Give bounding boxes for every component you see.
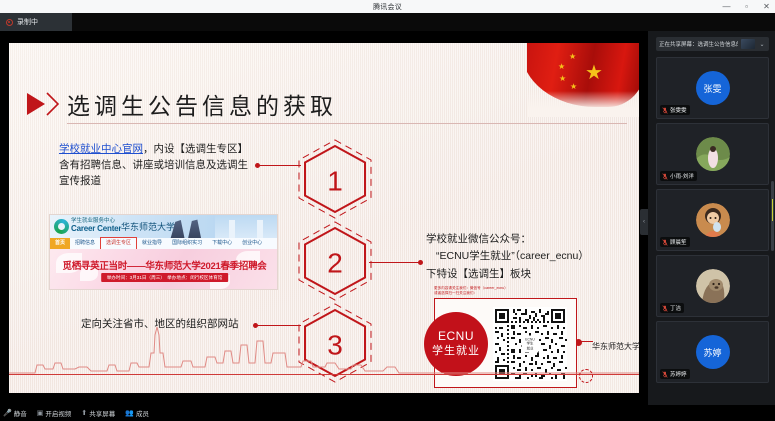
- hexagon-2-number: 2: [301, 247, 369, 279]
- participant-name-badge: 小雨-刘洋: [660, 171, 697, 181]
- participant-tile-4[interactable]: 苏婷 苏婷婷: [656, 321, 769, 383]
- mic-off-icon: [662, 371, 668, 378]
- mic-off-icon: 🎤: [3, 409, 12, 417]
- website-nav-item-3[interactable]: 就业指导: [137, 238, 167, 249]
- sharing-thumbnail[interactable]: [741, 39, 755, 49]
- rail-scroll-indicator: [772, 199, 773, 221]
- website-banner-subtitle: 举办时间：3月31日（周三） 举办地点：闵行校区体育馆: [101, 273, 229, 282]
- website-brand-big: Career Center: [71, 224, 121, 233]
- website-nav-item-0[interactable]: 首页: [50, 238, 70, 249]
- share-icon: ⬆: [81, 409, 87, 417]
- participant-name: 张雯雯: [670, 106, 687, 114]
- website-nav: 首页 招聘信息 选调生专区 就业指导 国际组织实习 下载中心 创业中心: [50, 238, 278, 249]
- recording-indicator[interactable]: 录制中: [0, 13, 72, 31]
- title-arrow-icon: [27, 93, 45, 115]
- participant-name-badge: 丁洁: [660, 303, 684, 313]
- minimize-icon[interactable]: —: [722, 2, 731, 11]
- video-off-icon: ▣: [37, 409, 44, 417]
- china-flag-icon: ★ ★ ★ ★ ★: [527, 43, 639, 121]
- participant-name-badge: 苏婷婷: [660, 369, 690, 379]
- website-header: 学生就业服务中心 Career Center 华东师范大学: [50, 215, 278, 238]
- participant-rail: 正在共享屏幕：选调生公告信息的获取 ⌄ 张雯 张雯雯: [648, 31, 775, 405]
- slide-point-1-line3: 宣传报道: [59, 173, 101, 189]
- slide-title: 选调生公告信息的获取: [67, 87, 337, 121]
- title-divider: [67, 123, 627, 124]
- window-titlebar: 腾讯会议 — ▫ ✕: [0, 0, 775, 13]
- toolbar-members-label: 成员: [136, 408, 149, 418]
- slide-right-line-3: 下特设【选调生】板块: [426, 266, 531, 283]
- record-dot-icon: [6, 19, 13, 26]
- website-nav-item-1[interactable]: 招聘信息: [70, 238, 100, 249]
- avatar: [696, 203, 730, 237]
- avatar: [696, 269, 730, 303]
- top-strip: [0, 13, 775, 31]
- website-nav-item-4[interactable]: 国际组织实习: [167, 238, 207, 249]
- connector-2: [369, 262, 421, 263]
- avatar-initials: 苏婷: [703, 346, 721, 359]
- slide-right-line-1: 学校就业微信公众号：: [426, 231, 531, 248]
- mic-off-icon: [662, 239, 668, 246]
- meeting-window: 腾讯会议 — ▫ ✕ 录制中 ★ ★ ★ ★ ★: [0, 0, 775, 421]
- hexagon-2: 2: [301, 225, 369, 302]
- mic-off-icon: [662, 107, 668, 114]
- avatar: 张雯: [696, 71, 730, 105]
- qr-note: 更多内容请关注我们：微信号（career_ecnu） 或者选择扫一扫关注我们：: [434, 286, 508, 296]
- connector-2-dot: [418, 260, 423, 265]
- toolbar-video-label: 开启视频: [45, 408, 71, 418]
- participant-tile-1[interactable]: 小雨-刘洋: [656, 123, 769, 185]
- maximize-icon[interactable]: ▫: [742, 2, 751, 11]
- mic-off-icon: [662, 305, 668, 312]
- participant-name: 顾晨笙: [670, 238, 687, 246]
- chevron-icon[interactable]: ⌄: [758, 41, 766, 48]
- hexagon-1: 1: [301, 143, 369, 220]
- sharing-topic-label: 正在共享屏幕：选调生公告信息的获取: [659, 40, 738, 48]
- slide-point-1-rest: ，内设【选调生专区】: [143, 143, 248, 155]
- shared-screen-stage[interactable]: ★ ★ ★ ★ ★ 选调生公告信息的获取 学校就业中心官网，内设【选调生专区】 …: [0, 31, 648, 405]
- collapse-rail-button[interactable]: ‹: [640, 209, 648, 235]
- presentation-slide: ★ ★ ★ ★ ★ 选调生公告信息的获取 学校就业中心官网，内设【选调生专区】 …: [9, 43, 639, 393]
- toolbar-share-label: 共享屏幕: [89, 408, 115, 418]
- participant-name-badge: 顾晨笙: [660, 237, 690, 247]
- members-icon: 👥: [125, 409, 134, 417]
- participant-name: 苏婷婷: [670, 370, 687, 378]
- hexagon-1-number: 1: [301, 165, 369, 197]
- toolbar-mute-label: 静音: [14, 408, 27, 418]
- participant-tile-2[interactable]: 顾晨笙: [656, 189, 769, 251]
- slide-right-line-2: “ECNU学生就业”（career_ecnu）: [436, 248, 589, 265]
- career-center-link[interactable]: 学校就业中心官网: [59, 143, 143, 155]
- career-center-screenshot: 学生就业服务中心 Career Center 华东师范大学 首页 招聘信息 选调…: [49, 214, 278, 290]
- website-banner: 觅栖寻英正当时——华东师范大学2021春季招聘会 举办时间：3月31日（周三） …: [50, 249, 278, 290]
- avatar: [696, 137, 730, 171]
- slide-point-1: 学校就业中心官网，内设【选调生专区】: [59, 141, 248, 157]
- campus-gate-photo: [215, 215, 277, 238]
- qr-note-line-2: 或者选择扫一扫关注我们：: [434, 291, 508, 296]
- avatar: 苏婷: [696, 335, 730, 369]
- participant-tile-3[interactable]: 丁洁: [656, 255, 769, 317]
- slide-decoration-dot: [579, 369, 593, 383]
- avatar-initials: 张雯: [703, 82, 721, 95]
- website-nav-item-6[interactable]: 创业中心: [237, 238, 267, 249]
- toolbar-mute-button[interactable]: 🎤 静音: [3, 408, 27, 418]
- recording-label: 录制中: [17, 17, 38, 27]
- connector-1: [259, 165, 301, 166]
- window-title: 腾讯会议: [0, 2, 775, 12]
- website-brand-cn: 华东师范大学: [121, 220, 175, 233]
- meeting-toolbar: 🎤 静音 ▣ 开启视频 ⬆ 共享屏幕 👥 成员: [0, 405, 775, 421]
- participant-name: 小雨-刘洋: [670, 172, 694, 180]
- shanghai-skyline-icon: [9, 323, 639, 375]
- slide-point-1-line2: 含有招聘信息、讲座或培训信息及选调生: [59, 157, 248, 173]
- connector-1-dot: [255, 163, 260, 168]
- website-logo-icon: [54, 219, 69, 234]
- participant-name-badge: 张雯雯: [660, 105, 690, 115]
- title-chevron-icon: [46, 92, 60, 116]
- website-banner-title: 觅栖寻英正当时——华东师范大学2021春季招聘会: [63, 258, 267, 272]
- toolbar-share-button[interactable]: ⬆ 共享屏幕: [81, 408, 115, 418]
- mic-off-icon: [662, 173, 668, 180]
- website-brand: 学生就业服务中心 Career Center: [71, 218, 121, 234]
- toolbar-members-button[interactable]: 👥 成员: [125, 408, 149, 418]
- website-nav-item-5[interactable]: 下载中心: [207, 238, 237, 249]
- close-icon[interactable]: ✕: [762, 2, 771, 11]
- participant-name: 丁洁: [670, 304, 681, 312]
- sharing-topic-bar[interactable]: 正在共享屏幕：选调生公告信息的获取 ⌄: [656, 37, 769, 51]
- toolbar-video-button[interactable]: ▣ 开启视频: [37, 408, 72, 418]
- window-controls: — ▫ ✕: [722, 0, 771, 13]
- participant-tile-0[interactable]: 张雯 张雯雯: [656, 57, 769, 119]
